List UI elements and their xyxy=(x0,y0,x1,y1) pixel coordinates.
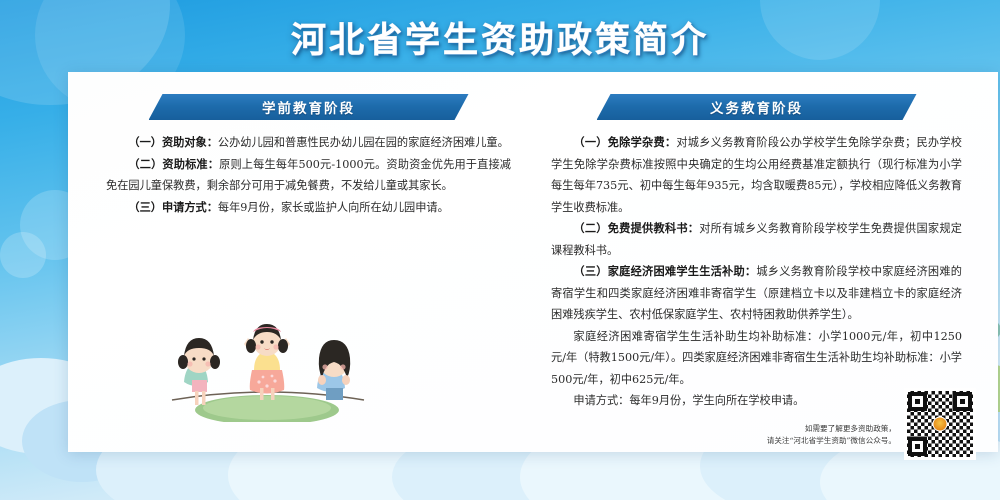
footer-note: 如需要了解更多资助政策， 请关注“河北省学生资助”微信公众号。 xyxy=(721,423,896,448)
policy-paragraph: （三）家庭经济困难学生生活补助：城乡义务教育阶段学校中家庭经济困难的寄宿学生和四… xyxy=(551,261,962,326)
background-orb xyxy=(0,232,46,278)
policy-paragraph: （二）资助标准：原则上每生每年500元-1000元。资助资金优先用于直接减免在园… xyxy=(106,154,511,197)
qr-center-emblem-icon xyxy=(933,417,948,432)
section-banner-label: 学前教育阶段 xyxy=(262,97,355,117)
page-title: 河北省学生资助政策简介 xyxy=(291,12,709,63)
column-compulsory: 义务教育阶段 （一）免除学杂费：对城乡义务教育阶段公办学校学生免除学杂费；民办学… xyxy=(533,94,980,442)
policy-paragraph: （一）免除学杂费：对城乡义务教育阶段公办学校学生免除学杂费；民办学校学生免除学杂… xyxy=(551,132,962,218)
policy-paragraph: （二）免费提供教科书：对所有城乡义务教育阶段学校学生免费提供国家规定课程教科书。 xyxy=(551,218,962,261)
child-right xyxy=(317,340,350,400)
policy-paragraph: 申请方式：每年9月份，学生向所在学校申请。 xyxy=(551,390,962,412)
qr-finder-bottom-left xyxy=(908,437,927,456)
policy-paragraph-lead: （一）资助对象： xyxy=(128,135,218,149)
section-banner-compulsory: 义务教育阶段 xyxy=(597,94,917,120)
policy-paragraph-lead: （三）家庭经济困难学生生活补助： xyxy=(573,264,756,278)
section-banner-label: 义务教育阶段 xyxy=(710,97,803,117)
section-banner-preschool: 学前教育阶段 xyxy=(149,94,469,120)
policy-paragraph-body: 申请方式：每年9月份，学生向所在学校申请。 xyxy=(573,394,804,407)
child-middle xyxy=(244,324,290,400)
qr-finder-top-right xyxy=(953,392,972,411)
qr-code[interactable] xyxy=(904,388,976,460)
qr-code-pattern xyxy=(907,391,973,457)
footer-note-line1: 如需要了解更多资助政策， xyxy=(721,423,896,436)
children-illustration xyxy=(152,292,382,422)
poster-root: 河北省学生资助政策简介 学前教育阶段 （一）资助对象：公办幼儿园和普惠性民办幼儿… xyxy=(0,0,1000,500)
qr-finder-top-left xyxy=(908,392,927,411)
policy-paragraph-lead: （三）申请方式： xyxy=(128,200,218,214)
policy-paragraph: （三）申请方式：每年9月份，家长或监护人向所在幼儿园申请。 xyxy=(106,197,511,219)
policy-paragraph-body: 每年9月份，家长或监护人向所在幼儿园申请。 xyxy=(218,201,449,214)
policy-paragraph-lead: （二）资助标准： xyxy=(128,157,219,171)
poster-title-container: 河北省学生资助政策简介 xyxy=(0,12,1000,63)
policy-paragraph-body: 公办幼儿园和普惠性民办幼儿园在园的家庭经济困难儿童。 xyxy=(218,136,509,149)
policy-paragraph: （一）资助对象：公办幼儿园和普惠性民办幼儿园在园的家庭经济困难儿童。 xyxy=(106,132,511,154)
policy-paragraph-body: 家庭经济困难寄宿学生生活补助生均补助标准：小学1000元/年，初中1250元/年… xyxy=(551,330,962,386)
policy-paragraph-lead: （一）免除学杂费： xyxy=(573,135,676,149)
footer-note-line2: 请关注“河北省学生资助”微信公众号。 xyxy=(721,435,896,448)
policy-paragraph-lead: （二）免费提供教科书： xyxy=(573,221,699,235)
policy-paragraph: 家庭经济困难寄宿学生生活补助生均补助标准：小学1000元/年，初中1250元/年… xyxy=(551,326,962,391)
